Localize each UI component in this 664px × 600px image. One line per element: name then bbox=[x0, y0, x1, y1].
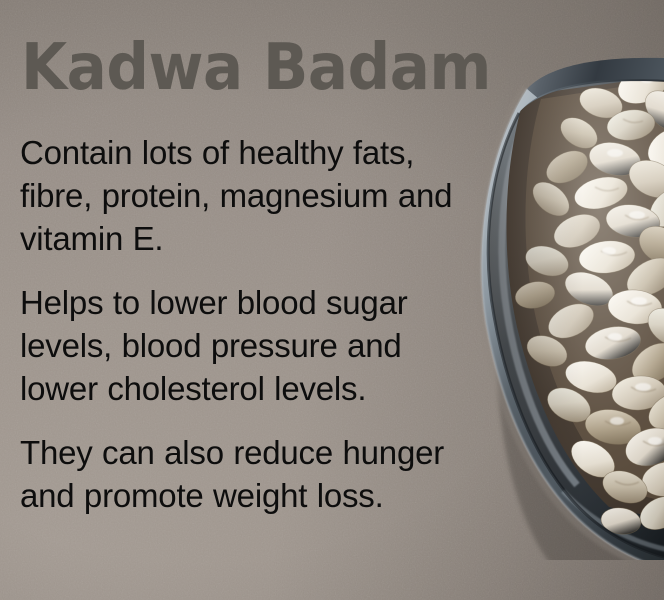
almond-bowl-photo bbox=[455, 55, 664, 560]
poster-canvas: Kadwa Badam Contain lots of healthy fats… bbox=[0, 0, 664, 600]
benefit-paragraph-blood-health: Helps to lower blood sugar levels, blood… bbox=[20, 281, 485, 410]
benefit-paragraph-nutrients: Contain lots of healthy fats, fibre, pro… bbox=[20, 131, 485, 260]
benefit-paragraph-weight-loss: They can also reduce hunger and promote … bbox=[20, 431, 485, 517]
page-title: Kadwa Badam bbox=[21, 33, 491, 103]
benefits-text-block: Contain lots of healthy fats, fibre, pro… bbox=[20, 131, 485, 517]
